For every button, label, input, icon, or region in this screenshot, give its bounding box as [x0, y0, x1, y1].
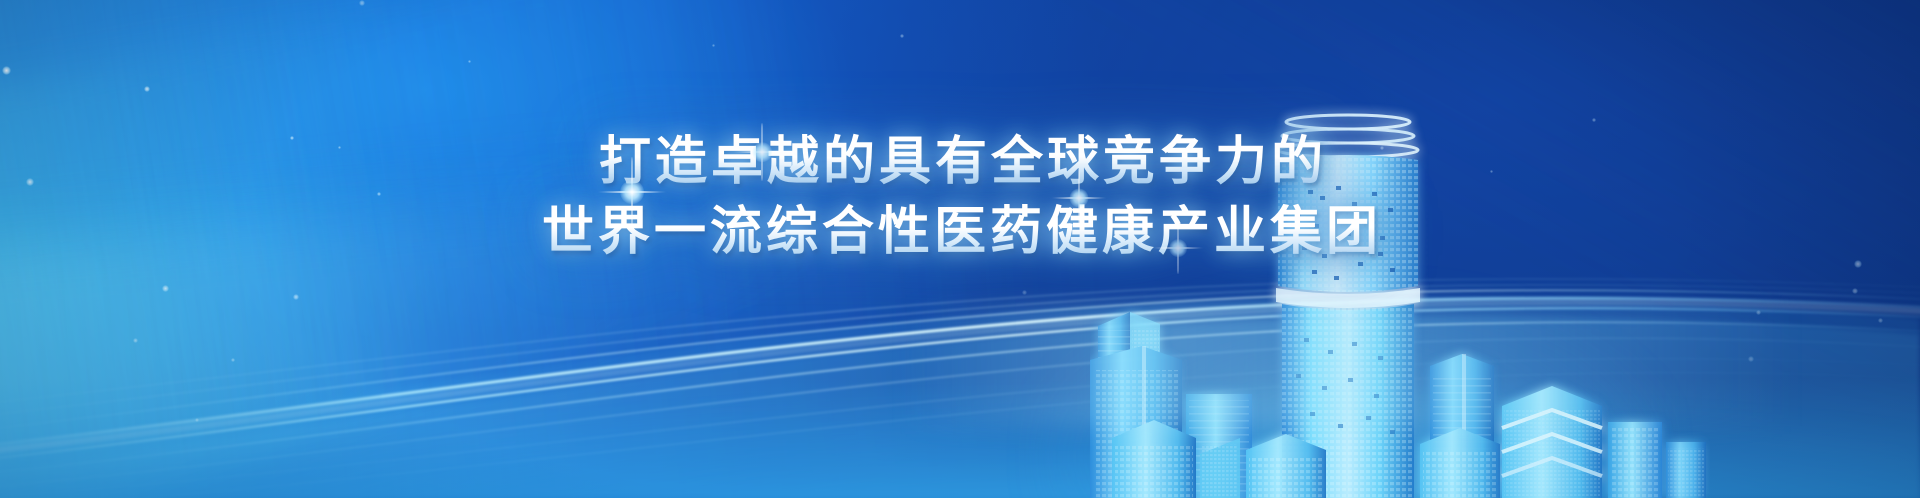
skyline-haze — [900, 306, 1800, 426]
lens-flare-sparkle — [1051, 170, 1107, 226]
vignette-overlay — [0, 0, 1920, 498]
bottom-light-wash — [0, 378, 1920, 498]
background-sheet-right — [987, 0, 1920, 431]
background-sheet-d — [0, 83, 1168, 498]
tower-crown — [1278, 115, 1418, 157]
building-left-stepped — [1090, 346, 1182, 498]
building-far-right — [1608, 422, 1706, 498]
floating-light-particles — [0, 0, 1920, 498]
tower-window-speckles — [1296, 186, 1395, 280]
lens-flare-sparkle — [597, 157, 667, 227]
background-sheet-mid — [0, 148, 1407, 498]
building-right-chevron — [1502, 386, 1602, 498]
headline-line-2: 世界一流综合性医药健康产业集团 — [0, 198, 1920, 268]
lens-flare-sparkle — [1152, 222, 1204, 274]
lens-flare-sparkle — [733, 123, 791, 181]
skyline-glow — [1030, 288, 1670, 498]
building-far-left — [1098, 312, 1160, 498]
building-front-left-cluster — [1112, 420, 1240, 498]
background-sheet-c — [0, 0, 1006, 498]
city-skyline-illustration — [1090, 98, 1710, 498]
headline-line-1: 打造卓越的具有全球竞争力的 — [0, 128, 1920, 198]
building-right-slim — [1430, 354, 1494, 498]
building-left-short — [1186, 394, 1252, 498]
building-main-tower — [1276, 115, 1420, 498]
hero-banner: 打造卓越的具有全球竞争力的 世界一流综合性医药健康产业集团 — [0, 0, 1920, 498]
building-front-right — [1420, 428, 1500, 498]
page-title: 打造卓越的具有全球竞争力的 世界一流综合性医药健康产业集团 — [0, 128, 1920, 268]
building-front-middle — [1246, 434, 1326, 498]
horizon-glow — [0, 278, 1920, 498]
background-sheet-a — [0, 0, 1156, 498]
flowing-light-streaks — [0, 198, 1920, 498]
background-sheet-b — [0, 0, 1184, 498]
